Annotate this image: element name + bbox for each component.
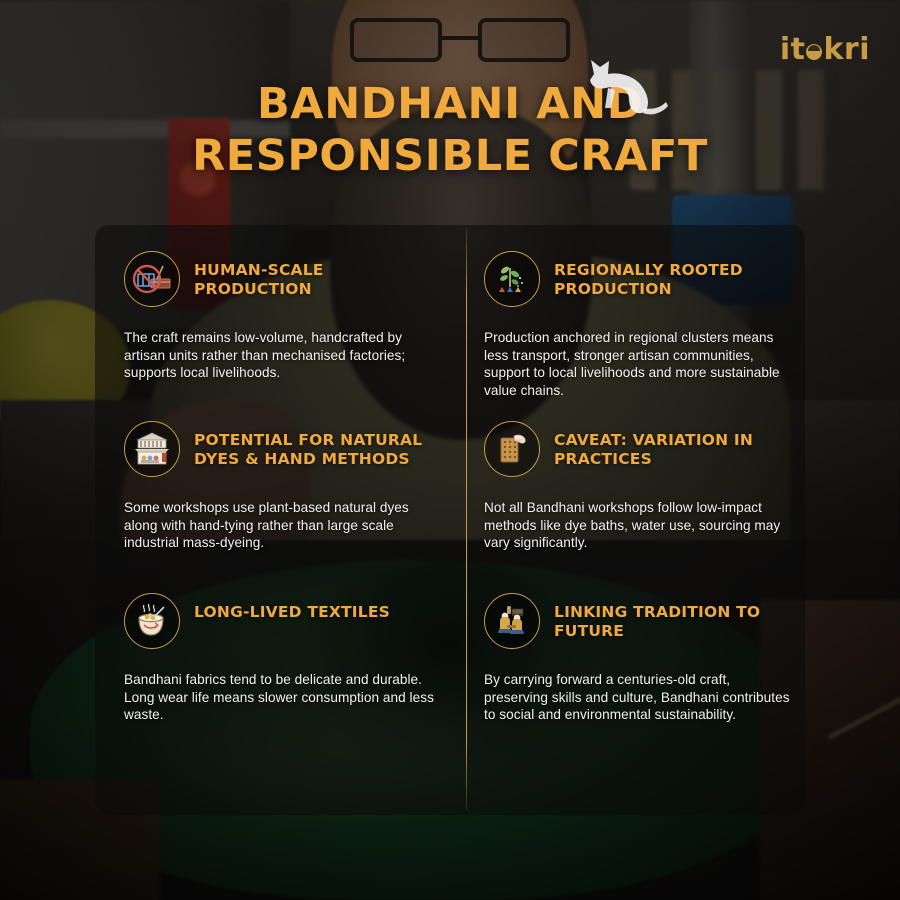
card-long-lived-textiles: LONG-LIVED TEXTILES Bandhani fabrics ten… [95, 565, 466, 815]
page-title: BANDHANI AND RESPONSIBLE CRAFT [0, 78, 900, 182]
title-line-2: RESPONSIBLE CRAFT [0, 130, 900, 182]
card-header: REGIONALLY ROOTED PRODUCTION [484, 253, 793, 307]
card-header: LINKING TRADITION TO FUTURE [484, 593, 793, 649]
card-header: HUMAN-SCALE PRODUCTION [124, 253, 444, 307]
artisan-workshop-building-icon [124, 421, 180, 477]
logo-text-after: kri [823, 32, 870, 67]
card-body: Some workshops use plant-based natural d… [124, 499, 444, 552]
card-title: LINKING TRADITION TO FUTURE [554, 595, 793, 641]
card-body: By carrying forward a centuries-old craf… [484, 671, 793, 724]
card-title: REGIONALLY ROOTED PRODUCTION [554, 253, 793, 299]
photo-white-cat-silhouette [578, 52, 670, 122]
logo-o-mark [806, 44, 822, 60]
card-title: CAVEAT: VARIATION IN PRACTICES [554, 423, 793, 469]
hand-holding-patterned-fabric-icon [484, 421, 540, 477]
points-grid: HUMAN-SCALE PRODUCTION The craft remains… [95, 225, 805, 815]
card-header: POTENTIAL FOR NATURAL DYES & HAND METHOD… [124, 423, 444, 477]
card-human-scale-production: HUMAN-SCALE PRODUCTION The craft remains… [95, 225, 466, 395]
sprouting-plant-icon [484, 251, 540, 307]
logo-text-before: it [780, 32, 806, 67]
itokri-logo[interactable]: it kri [780, 32, 870, 67]
card-title: HUMAN-SCALE PRODUCTION [194, 253, 444, 299]
card-body: Not all Bandhani workshops follow low-im… [484, 499, 793, 552]
two-artisans-working-icon [484, 593, 540, 649]
card-title: LONG-LIVED TEXTILES [194, 595, 390, 622]
card-regionally-rooted-production: REGIONALLY ROOTED PRODUCTION Production … [466, 225, 805, 395]
no-factory-machine-icon [124, 251, 180, 307]
card-header: CAVEAT: VARIATION IN PRACTICES [484, 423, 793, 477]
card-header: LONG-LIVED TEXTILES [124, 593, 444, 649]
card-caveat-variation-in-practices: CAVEAT: VARIATION IN PRACTICES Not all B… [466, 395, 805, 565]
card-body: Bandhani fabrics tend to be delicate and… [124, 671, 444, 724]
card-natural-dyes-hand-methods: POTENTIAL FOR NATURAL DYES & HAND METHOD… [95, 395, 466, 565]
steaming-dye-pot-icon [124, 593, 180, 649]
infographic-canvas: it kri BANDHANI AND RESPONSIBLE CRAFT [0, 0, 900, 900]
card-body: The craft remains low-volume, handcrafte… [124, 329, 444, 382]
card-title: POTENTIAL FOR NATURAL DYES & HAND METHOD… [194, 423, 444, 469]
card-linking-tradition-to-future: LINKING TRADITION TO FUTURE By carrying … [466, 565, 805, 815]
card-body: Production anchored in regional clusters… [484, 329, 793, 399]
